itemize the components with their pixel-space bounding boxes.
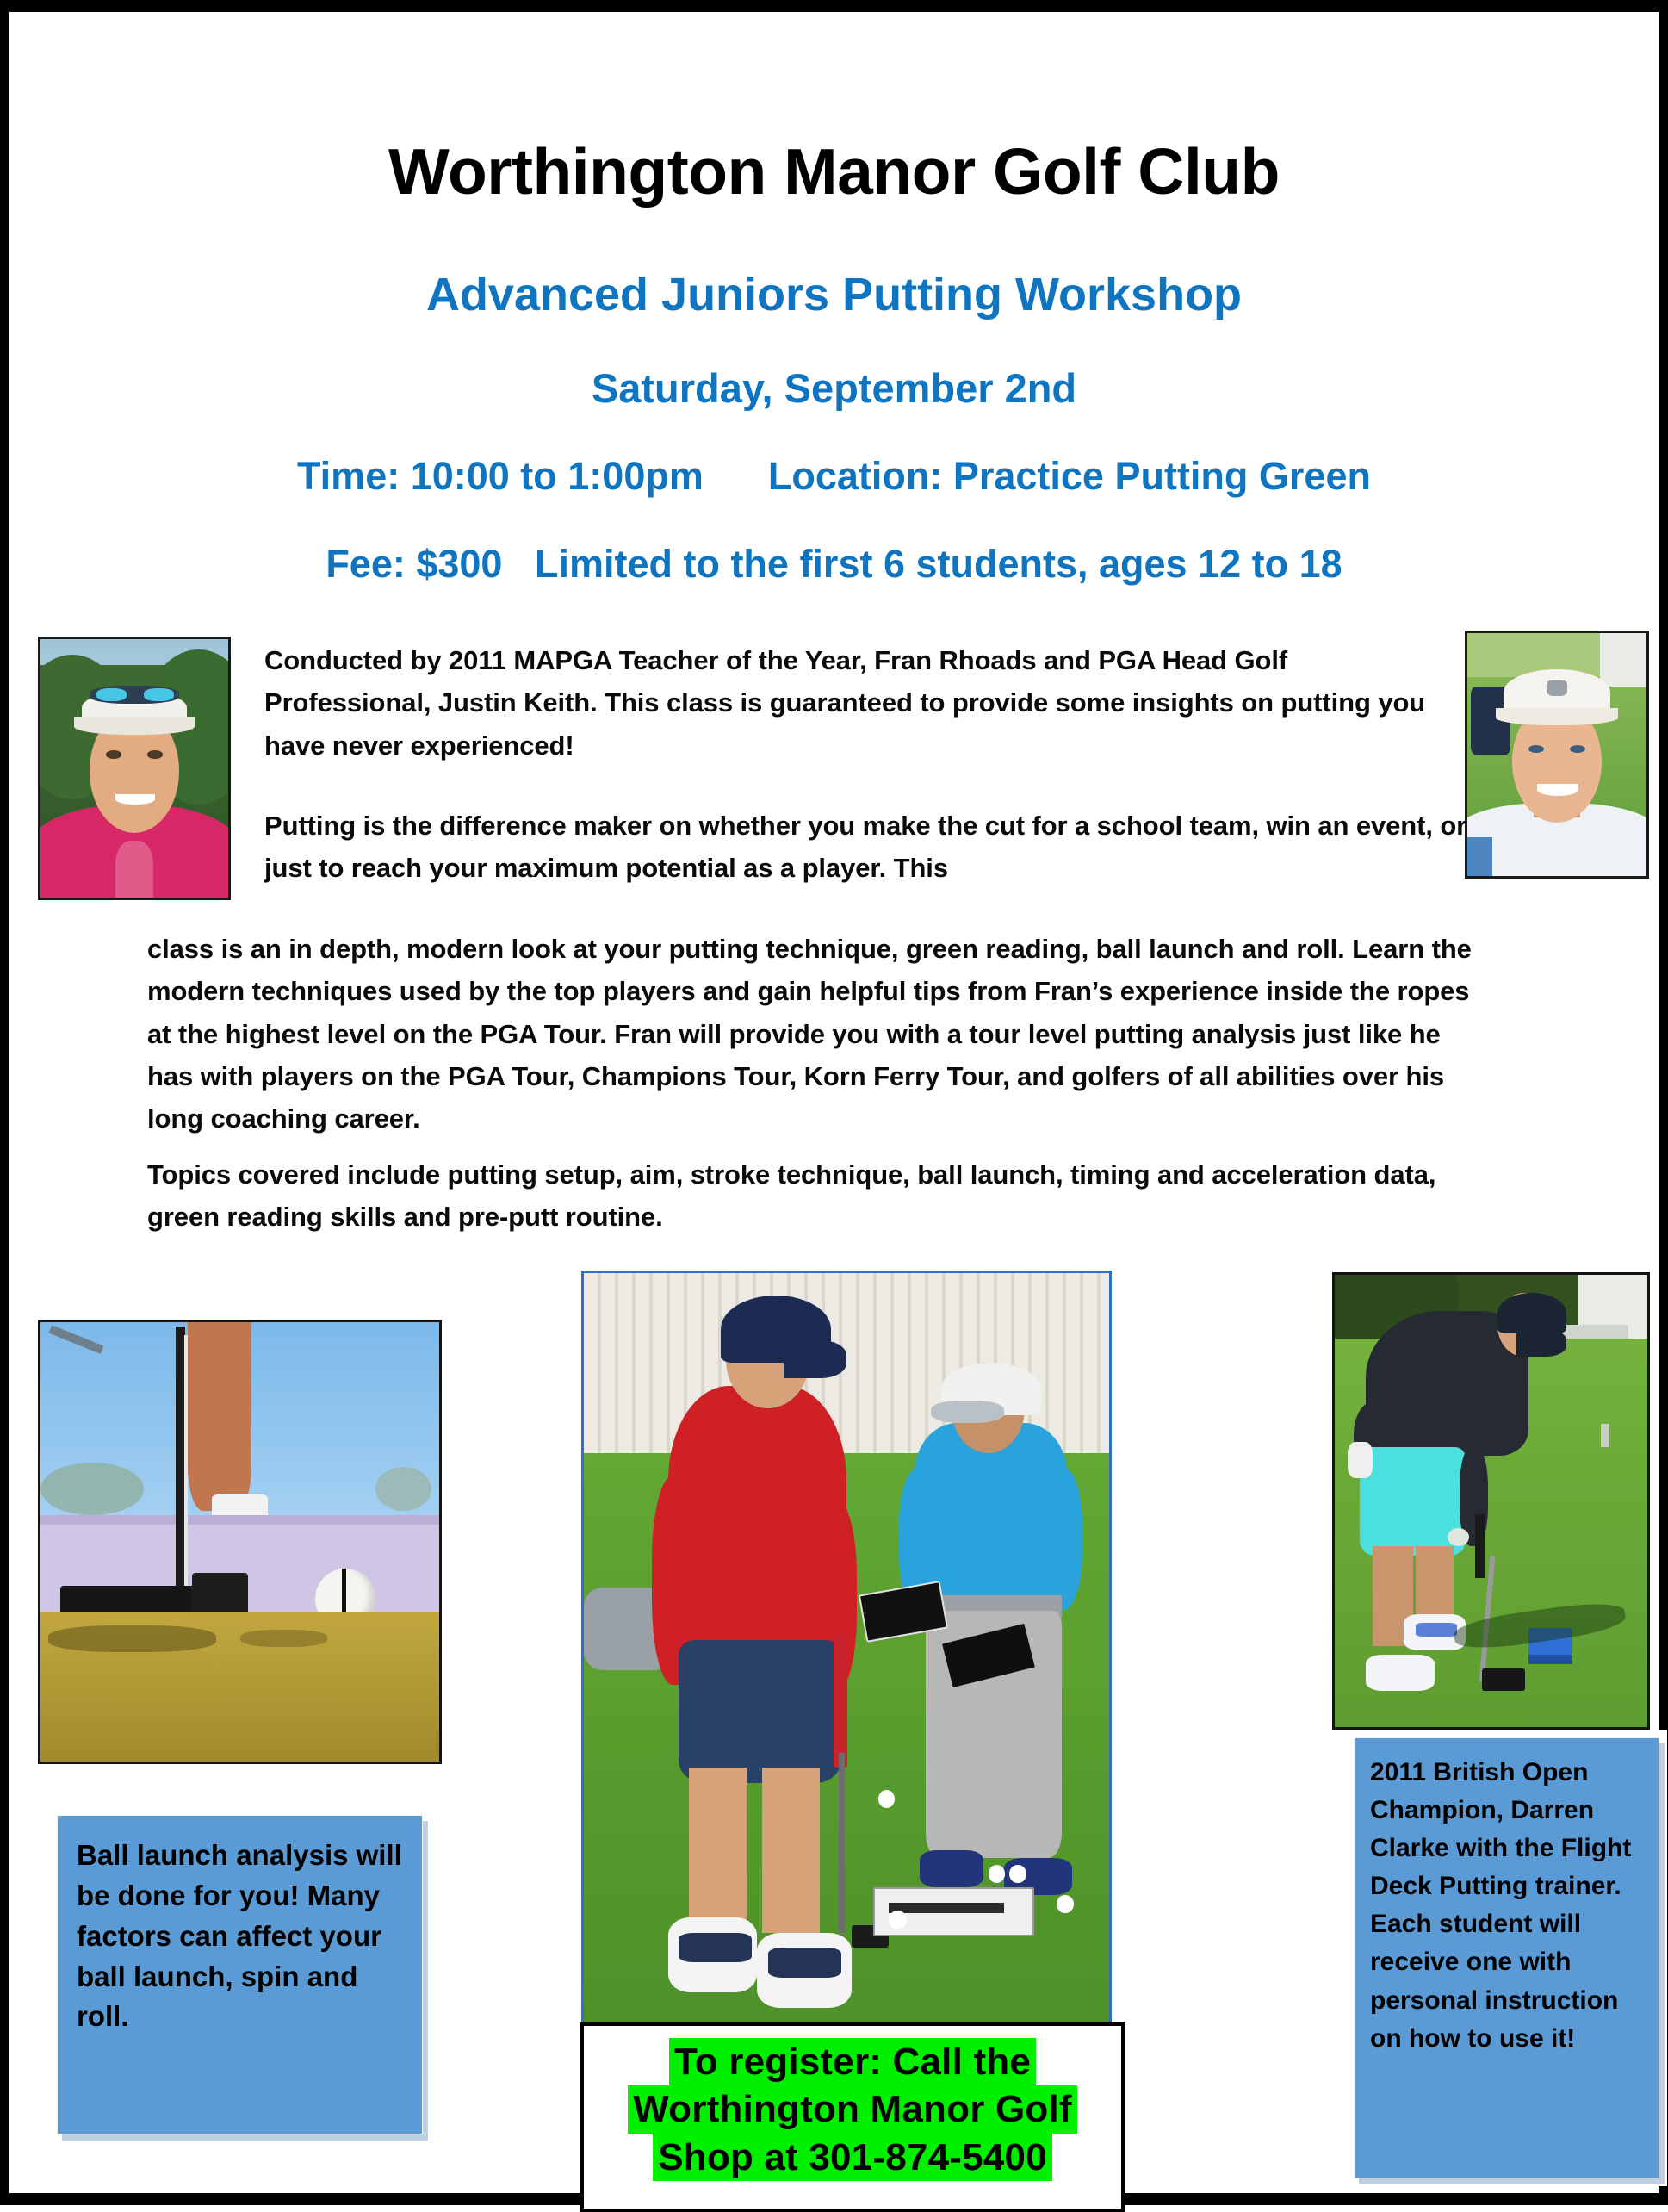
- workshop-title: Advanced Juniors Putting Workshop: [9, 271, 1659, 318]
- photo-ball-launch: [38, 1320, 442, 1764]
- register-line-1: To register: Call the: [669, 2038, 1036, 2085]
- photo-putting-lesson: [581, 1271, 1112, 2025]
- photo-darren-clarke: [1332, 1272, 1650, 1730]
- register-phone: Shop at 301-874-5400: [653, 2134, 1052, 2181]
- portrait-justin-keith: [1465, 631, 1649, 879]
- register-box[interactable]: To register: Call the Worthington Manor …: [580, 2022, 1125, 2212]
- paragraph-putting-intro: Putting is the difference maker on wheth…: [264, 805, 1470, 890]
- caption-ball-launch: Ball launch analysis will be done for yo…: [57, 1815, 423, 2134]
- fee-and-limit: Fee: $300 Limited to the first 6 student…: [9, 544, 1659, 583]
- paragraph-topics: Topics covered include putting setup, ai…: [147, 1153, 1439, 1239]
- register-line-2: Worthington Manor Golf: [628, 2085, 1076, 2133]
- portrait-justin-image: [1467, 633, 1646, 876]
- flyer-canvas: Worthington Manor Golf Club Advanced Jun…: [9, 12, 1659, 2193]
- paragraph-instructors: Conducted by 2011 MAPGA Teacher of the Y…: [264, 639, 1453, 767]
- caption-darren-clarke: 2011 British Open Champion, Darren Clark…: [1354, 1737, 1659, 2178]
- portrait-fran-image: [40, 639, 228, 898]
- paragraph-putting-detail: class is an in depth, modern look at you…: [147, 928, 1491, 1140]
- portrait-fran-rhoads: [38, 637, 231, 900]
- workshop-date: Saturday, September 2nd: [9, 368, 1659, 408]
- flyer-page: Worthington Manor Golf Club Advanced Jun…: [0, 0, 1668, 2205]
- page-title: Worthington Manor Golf Club: [9, 140, 1659, 204]
- time-and-location: Time: 10:00 to 1:00pm Location: Practice…: [9, 457, 1659, 495]
